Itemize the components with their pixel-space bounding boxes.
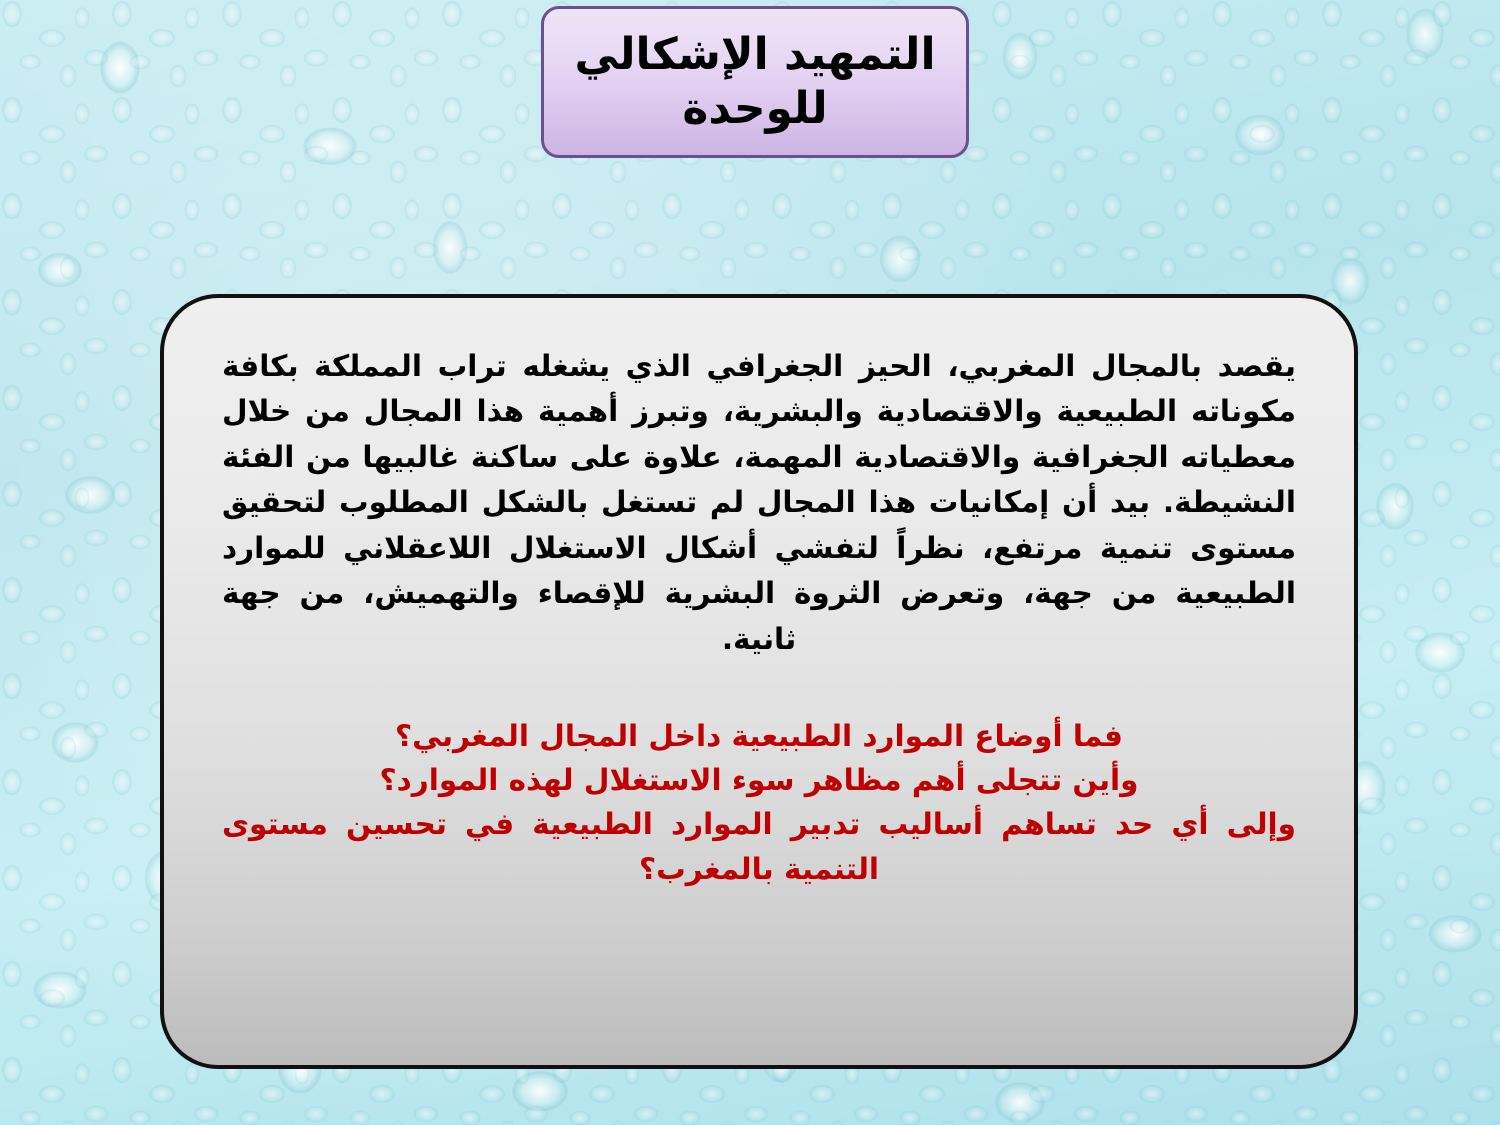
presentation-slide: التمهيد الإشكالي للوحدة يقصد بالمجال الم… bbox=[0, 0, 1500, 1125]
problem-question-2: وأين تتجلى أهم مظاهر سوء الاستغلال لهذه … bbox=[222, 758, 1296, 802]
problem-question-3: وإلى أي حد تساهم أساليب تدبير الموارد ال… bbox=[222, 802, 1296, 891]
slide-content-box: يقصد بالمجال المغربي، الحيز الجغرافي الذ… bbox=[160, 294, 1358, 1069]
slide-title-line-2: للوحدة bbox=[682, 82, 827, 136]
problem-questions-list: فما أوضاع الموارد الطبيعية داخل المجال ا… bbox=[222, 714, 1296, 891]
problem-question-1: فما أوضاع الموارد الطبيعية داخل المجال ا… bbox=[222, 714, 1296, 758]
slide-title-line-1: التمهيد الإشكالي bbox=[574, 28, 935, 82]
introduction-paragraph: يقصد بالمجال المغربي، الحيز الجغرافي الذ… bbox=[222, 344, 1296, 662]
slide-title-box: التمهيد الإشكالي للوحدة bbox=[541, 6, 969, 158]
